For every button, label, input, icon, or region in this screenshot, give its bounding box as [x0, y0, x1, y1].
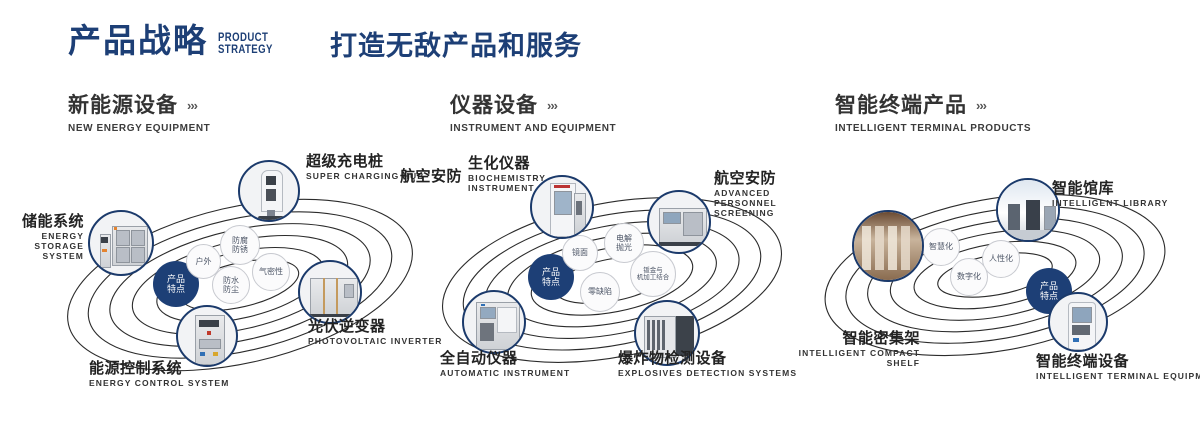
caption-cn: 航空安防	[714, 170, 810, 187]
caption-en: EXPLOSIVES DETECTION SYSTEMS	[618, 369, 797, 379]
caption-biochemistry-instrument: 生化仪器 BIOCHEMISTRY INSTRUMENT	[468, 155, 564, 194]
compact-shelf-icon	[854, 212, 922, 280]
caption-energy-storage: 储能系统 ENERGY STORAGE SYSTEM	[0, 213, 84, 262]
feature-line2: 机加工结合	[637, 274, 670, 281]
feature-bubble: 智慧化	[922, 228, 960, 266]
control-cabinet-icon	[178, 307, 236, 365]
screening-machine-icon	[649, 192, 709, 252]
page-title-cn: 产品战略	[68, 24, 208, 57]
section-title-cn: 仪器设备	[450, 95, 538, 116]
feature-line1: 户外	[196, 257, 212, 266]
caption-cn: 智能终端设备	[1036, 353, 1200, 370]
caption-intelligent-library: 智能馆库 INTELLIGENT LIBRARY	[1052, 180, 1168, 209]
cluster-new-energy-equipment: 产品 特点 户外 防腐 防锈 气密性 防水 防尘	[40, 150, 440, 420]
caption-advanced-screening: 航空安防 ADVANCED PERSONNEL SCREENING	[714, 170, 810, 219]
feature-bubble: 镜面	[562, 235, 598, 271]
feature-bubble: 防腐 防锈	[220, 225, 260, 265]
product-node-screening-machine[interactable]	[647, 190, 711, 254]
feature-line1: 零缺陷	[588, 287, 612, 296]
cluster-intelligent-terminal-products: 智慧化 人性化 数字化 产品 特点	[800, 150, 1200, 420]
caption-en: INTELLIGENT COMPACT SHELF	[790, 349, 920, 369]
product-node-intelligent-library[interactable]	[996, 178, 1060, 242]
caption-cn: 能源控制系统	[89, 360, 229, 377]
caption-en: AUTOMATIC INSTRUMENT	[440, 369, 570, 379]
caption-en: ENERGY STORAGE SYSTEM	[0, 232, 84, 261]
library-room-icon	[998, 180, 1058, 240]
page-title-en: PRODUCT STRATEGY	[218, 31, 273, 55]
feature-line1: 防水	[223, 276, 239, 285]
caption-automatic-instrument: 全自动仪器 AUTOMATIC INSTRUMENT	[440, 350, 570, 379]
caption-cn: 全自动仪器	[440, 350, 570, 367]
caption-cn: 储能系统	[0, 213, 84, 230]
caption-en: INTELLIGENT TERMINAL EQUIPMENT	[1036, 372, 1200, 382]
feature-line1: 数字化	[957, 272, 981, 281]
caption-cn: 航空安防	[382, 168, 462, 185]
feature-line1: 钣金与	[637, 267, 670, 274]
caption-en: BIOCHEMISTRY INSTRUMENT	[468, 174, 564, 194]
section-title-en: INSTRUMENT AND EQUIPMENT	[450, 123, 616, 134]
feature-line1: 镜面	[572, 248, 588, 257]
caption-explosives-detection: 爆炸物检测设备 EXPLOSIVES DETECTION SYSTEMS	[618, 350, 797, 379]
caption-compact-shelf: 智能密集架 INTELLIGENT COMPACT SHELF	[790, 330, 920, 369]
caption-advanced-screening-left: 航空安防	[382, 168, 462, 185]
feature-line1: 防腐	[232, 236, 248, 245]
page-subtitle: 打造无敌产品和服务	[330, 33, 582, 60]
poster-canvas: 产品战略 PRODUCT STRATEGY 打造无敌产品和服务 新能源设备 ››…	[0, 0, 1200, 422]
caption-en: ADVANCED PERSONNEL SCREENING	[714, 189, 810, 218]
caption-control-system: 能源控制系统 ENERGY CONTROL SYSTEM	[89, 360, 229, 389]
section-title-cn: 新能源设备	[68, 95, 178, 116]
page-title-en-line2: STRATEGY	[218, 43, 273, 55]
energy-storage-cabinet-icon	[90, 212, 152, 274]
page-title: 产品战略 PRODUCT STRATEGY	[68, 24, 286, 57]
product-node-automatic-instrument[interactable]	[462, 290, 526, 354]
feature-bubble: 钣金与 机加工结合	[630, 251, 676, 297]
core-feature-line2: 特点	[167, 284, 185, 294]
feature-bubble: 数字化	[950, 258, 988, 296]
caption-cn: 智能密集架	[790, 330, 920, 347]
feature-bubble: 零缺陷	[580, 272, 620, 312]
product-node-pv-inverter[interactable]	[298, 260, 362, 324]
product-node-energy-storage[interactable]	[88, 210, 154, 276]
feature-bubble: 人性化	[982, 240, 1020, 278]
section-title-en: INTELLIGENT TERMINAL PRODUCTS	[835, 123, 1031, 134]
pv-inverter-cabinet-icon	[300, 262, 360, 322]
core-feature-line1: 产品	[542, 267, 560, 277]
section-heading-instrument: 仪器设备 ››› INSTRUMENT AND EQUIPMENT	[450, 95, 616, 134]
section-title-cn: 智能终端产品	[835, 95, 967, 116]
feature-line1: 智慧化	[929, 242, 953, 251]
section-heading-new-energy: 新能源设备 ››› NEW ENERGY EQUIPMENT	[68, 95, 210, 134]
feature-line2: 防锈	[232, 245, 248, 254]
cluster-instrument-and-equipment: 产品 特点 镜面 电解 抛光 钣金与 机加工结合 零缺陷	[422, 150, 822, 420]
chevrons-icon: ›››	[547, 98, 557, 113]
caption-en: ENERGY CONTROL SYSTEM	[89, 379, 229, 389]
feature-bubble: 气密性	[252, 253, 290, 291]
automatic-instrument-icon	[464, 292, 524, 352]
caption-en: INTELLIGENT LIBRARY	[1052, 199, 1168, 209]
caption-terminal-equipment: 智能终端设备 INTELLIGENT TERMINAL EQUIPMENT	[1036, 353, 1200, 382]
charging-pile-icon	[240, 162, 298, 220]
product-node-control-cabinet[interactable]	[176, 305, 238, 367]
feature-line2: 防尘	[223, 285, 239, 294]
chevrons-icon: ›››	[976, 98, 986, 113]
core-feature-line2: 特点	[542, 277, 560, 287]
section-heading-terminal: 智能终端产品 ››› INTELLIGENT TERMINAL PRODUCTS	[835, 95, 1031, 134]
caption-cn: 爆炸物检测设备	[618, 350, 797, 367]
product-node-terminal-kiosk[interactable]	[1048, 292, 1108, 352]
feature-line1: 电解	[616, 234, 632, 243]
feature-line1: 人性化	[989, 254, 1013, 263]
feature-bubble: 防水 防尘	[212, 266, 250, 304]
feature-line1: 气密性	[259, 267, 283, 276]
product-node-compact-shelf[interactable]	[852, 210, 924, 282]
caption-cn: 智能馆库	[1052, 180, 1168, 197]
feature-line2: 抛光	[616, 243, 632, 252]
product-node-charging-pile[interactable]	[238, 160, 300, 222]
section-title-en: NEW ENERGY EQUIPMENT	[68, 123, 210, 134]
caption-cn: 生化仪器	[468, 155, 564, 172]
core-feature-line1: 产品	[1040, 281, 1058, 291]
core-feature-line1: 产品	[167, 274, 185, 284]
chevrons-icon: ›››	[187, 98, 197, 113]
terminal-kiosk-icon	[1050, 294, 1106, 350]
